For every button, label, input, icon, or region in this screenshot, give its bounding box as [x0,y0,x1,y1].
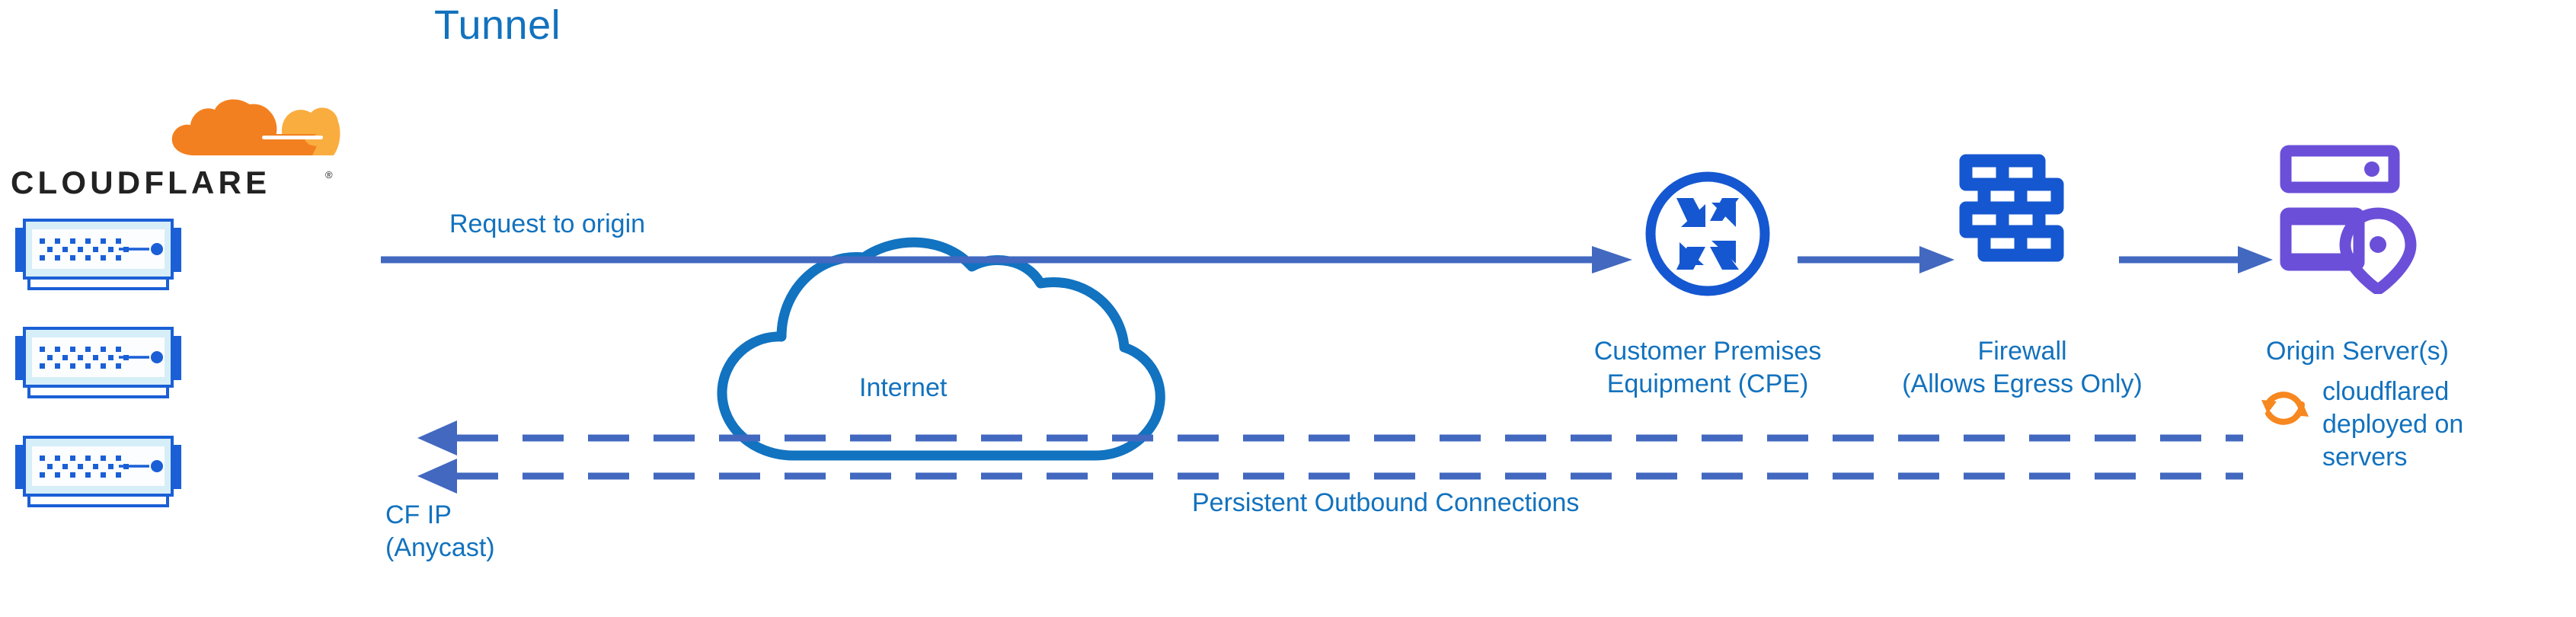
origin-label-line-1: Origin Server(s) [2178,335,2536,368]
server-rack-icon [11,433,186,513]
cloudflared-text: cloudflared deployed on servers [2322,376,2463,475]
network-router-icon [1643,169,1772,299]
server-rack-icon [11,324,186,404]
firewall-label-line-2: (Allows Egress Only) [1858,368,2186,401]
persistent-outbound-connections-label: Persistent Outbound Connections [1192,488,1579,518]
firewall-label: Firewall (Allows Egress Only) [1858,335,2186,401]
svg-text:CLOUDFLARE: CLOUDFLARE [11,166,270,200]
cloudflare-wordmark: CLOUDFLARE ® [11,166,338,201]
svg-text:®: ® [325,169,333,181]
cloudflare-logo: CLOUDFLARE ® [11,99,338,206]
cpe-label-line-2: Equipment (CPE) [1544,368,1871,401]
diagram-canvas: Tunnel CLOUDFLARE ® [0,0,2576,617]
cpe-to-firewall-arrow [1798,246,1954,273]
cpe-label: Customer Premises Equipment (CPE) [1544,335,1871,401]
cloudflare-cloud-icon [168,99,343,169]
cf-ip-anycast-label: CF IP (Anycast) [385,499,495,564]
server-location-pin-icon [2278,143,2427,294]
cloudflared-line-2: deployed on [2322,408,2463,441]
brick-wall-icon [1958,152,2084,291]
persistent-connection-line-1 [417,420,2243,456]
cf-ip-line-1: CF IP [385,499,495,532]
firewall-label-line-1: Firewall [1858,335,2186,368]
server-rack-icon [11,216,186,296]
internet-label: Internet [859,373,947,403]
page-title: Tunnel [434,2,561,49]
request-to-origin-label: Request to origin [449,209,645,239]
cf-ip-line-2: (Anycast) [385,532,495,564]
firewall-to-origin-arrow [2119,246,2273,273]
cloudflared-line-1: cloudflared [2322,376,2463,408]
sync-arrows-icon [2258,382,2312,435]
cloudflared-line-3: servers [2322,441,2463,474]
cpe-label-line-1: Customer Premises [1544,335,1871,368]
internet-cloud-icon [708,236,1181,465]
origin-server-label: Origin Server(s) [2178,335,2536,368]
